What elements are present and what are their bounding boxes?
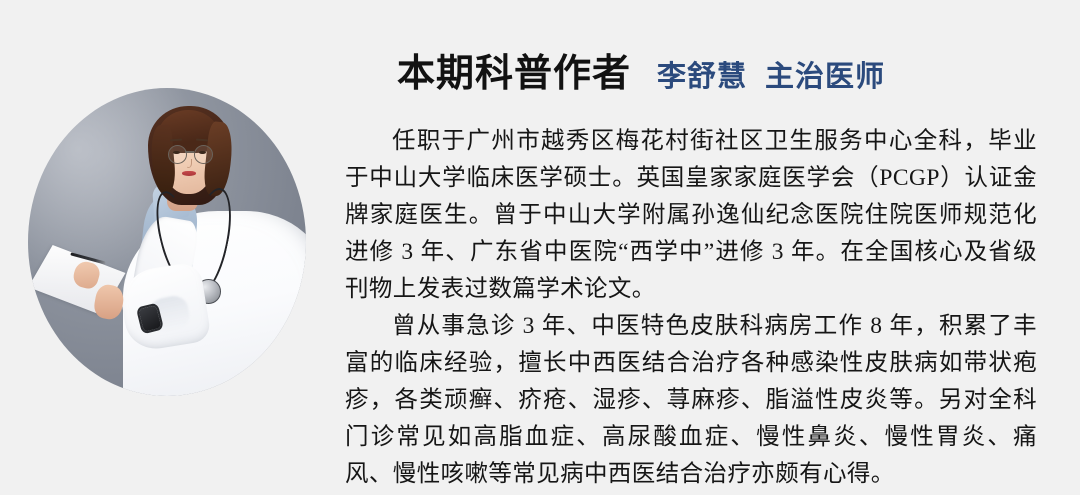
headline: 本期科普作者 李舒慧 主治医师: [345, 42, 1037, 97]
author-job-title-label: 主治医师: [765, 53, 885, 95]
headline-main-label: 本期科普作者: [397, 42, 631, 97]
author-bio: 任职于广州市越秀区梅花村街社区卫生服务中心全科，毕业于中山大学临床医学硕士。英国…: [345, 123, 1037, 493]
glasses-lens-left-icon: [168, 145, 188, 164]
author-profile-card: 本期科普作者 李舒慧 主治医师 任职于广州市越秀区梅花村街社区卫生服务中心全科，…: [0, 0, 1080, 495]
bio-paragraph-2: 曾从事急诊 3 年、中医特色皮肤科病房工作 8 年，积累了丰富的临床经验，擅长中…: [345, 308, 1037, 493]
author-portrait: [28, 88, 306, 396]
glasses-bridge-icon: [185, 151, 194, 153]
glasses-lens-right-icon: [194, 145, 214, 164]
author-content: 本期科普作者 李舒慧 主治医师 任职于广州市越秀区梅花村街社区卫生服务中心全科，…: [345, 42, 1037, 493]
author-name-label: 李舒慧: [657, 53, 747, 95]
eye-left: [173, 151, 180, 154]
portrait-circle-image: [28, 88, 306, 396]
bio-paragraph-1: 任职于广州市越秀区梅花村街社区卫生服务中心全科，毕业于中山大学临床医学硕士。英国…: [345, 123, 1037, 308]
eye-right: [199, 151, 206, 154]
